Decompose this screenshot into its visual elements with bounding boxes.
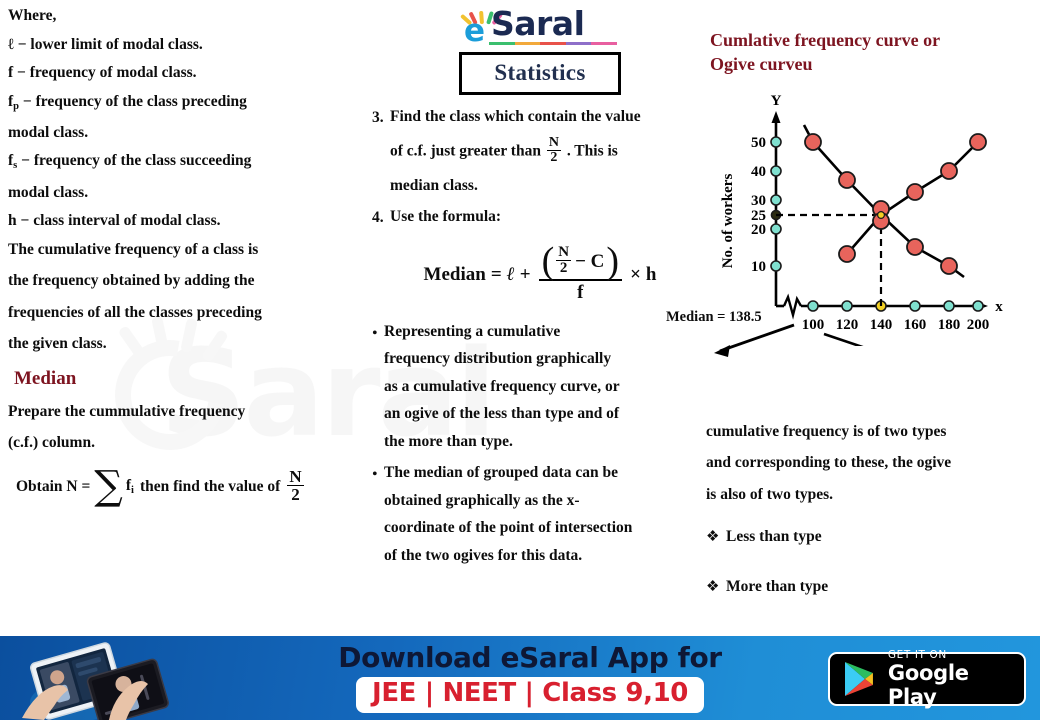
y-axis-arrowhead bbox=[772, 111, 781, 123]
cf-paragraph-line-1: The cumulative frequency of a class is bbox=[8, 242, 370, 258]
y-tick-label-30: 30 bbox=[751, 193, 766, 209]
cf-paragraph-line-3: frequencies of all the classes preceding bbox=[8, 305, 370, 321]
formula-plus: + bbox=[520, 264, 531, 286]
formula-close-paren: ) bbox=[606, 250, 619, 274]
y-tick-dot-40 bbox=[771, 166, 781, 176]
median-arrowhead bbox=[714, 345, 730, 357]
axis-break-zigzag bbox=[784, 297, 801, 315]
formula-minus-c: − C bbox=[575, 251, 604, 273]
esaral-logo: e Saral bbox=[455, 4, 625, 46]
x-tick-dot-100 bbox=[808, 301, 818, 311]
right-paragraph-line-3: is also of two types. bbox=[706, 487, 1036, 503]
banner-course-pill: JEE | NEET | Class 9,10 bbox=[356, 677, 704, 713]
bullet-2-line-4: of the two ogives for this data. bbox=[384, 548, 708, 564]
formula-ell: ℓ bbox=[507, 264, 515, 286]
definition-fp-cont: modal class. bbox=[8, 125, 370, 141]
where-label: Where, bbox=[8, 8, 370, 24]
worksheet-page: Saral Where, ℓ − lower limit of modal cl… bbox=[0, 0, 1040, 720]
definition-f: f − frequency of modal class. bbox=[8, 65, 370, 81]
x-axis-arrow-label: x bbox=[995, 299, 1003, 315]
right-column: Cumlative frequency curve or Ogive curve… bbox=[706, 0, 1036, 628]
bullet-2-line-2: obtained graphically as the x- bbox=[384, 493, 708, 509]
y-tick-dot-10 bbox=[771, 261, 781, 271]
prepare-line-2: (c.f.) column. bbox=[8, 435, 370, 451]
obtain-n-formula: Obtain N = ∑ fi then find the value of N… bbox=[16, 469, 370, 505]
diamond-bullet-icon: ❖ bbox=[706, 580, 726, 595]
cf-paragraph-line-4: the given class. bbox=[8, 336, 370, 352]
type-item-more-than: ❖ More than type bbox=[706, 578, 1036, 596]
y-tick-label-10: 10 bbox=[751, 259, 766, 275]
step-4-line-1: Use the formula: bbox=[390, 209, 708, 225]
right-paragraph: cumulative frequency is of two types and… bbox=[706, 424, 1036, 503]
median-heading: Median bbox=[14, 368, 370, 390]
n-over-2-fraction: N 2 bbox=[287, 468, 303, 504]
x-tick-label-160: 160 bbox=[904, 317, 927, 333]
data-point-120-13 bbox=[839, 246, 855, 262]
formula-main-fraction: ( N 2 − C ) f bbox=[539, 246, 622, 304]
ogive-heading-line-2: Ogive curveu bbox=[710, 52, 1036, 76]
tablet-illustration bbox=[14, 640, 199, 720]
type-item-less-than: ❖ Less than type bbox=[706, 528, 1036, 546]
ogive-chart: Y x No. of workers 50 40 30 bbox=[706, 91, 1036, 346]
logo-color-bar bbox=[489, 42, 617, 45]
cf-paragraph-line-2: the frequency obtained by adding the bbox=[8, 273, 370, 289]
ogive-heading: Cumlative frequency curve or Ogive curve… bbox=[710, 28, 1036, 77]
data-point-180-10 bbox=[941, 258, 957, 274]
banner-text-block: Download eSaral App for JEE | NEET | Cla… bbox=[330, 642, 730, 713]
ogive-chart-svg: Y x No. of workers 50 40 30 bbox=[706, 91, 1036, 346]
x-tick-label-180: 180 bbox=[938, 317, 961, 333]
formula-h: h bbox=[646, 264, 657, 286]
data-point-100-50 bbox=[805, 134, 821, 150]
y-axis-arrow-label: Y bbox=[771, 93, 782, 109]
bullet-dot-icon: • bbox=[372, 324, 384, 462]
google-play-big-text: Google Play bbox=[888, 662, 1024, 708]
obtain-variable: fi bbox=[126, 477, 134, 496]
x-tick-dot-180 bbox=[944, 301, 954, 311]
bullet-2-line-1: The median of grouped data can be bbox=[384, 465, 708, 481]
summation-icon: ∑ bbox=[94, 472, 123, 501]
definition-ell: ℓ − lower limit of modal class. bbox=[8, 37, 370, 53]
x-tick-dot-160 bbox=[910, 301, 920, 311]
step-3: 3. Find the class which contain the valu… bbox=[372, 109, 708, 206]
app-download-banner[interactable]: Download eSaral App for JEE | NEET | Cla… bbox=[0, 636, 1040, 720]
formula-label: Median bbox=[424, 264, 486, 286]
step-4: 4. Use the formula: bbox=[372, 209, 708, 237]
google-play-triangle-icon bbox=[842, 660, 876, 698]
right-paragraph-line-2: and corresponding to these, the ogive bbox=[706, 455, 1036, 471]
step-3-line-3: median class. bbox=[390, 178, 708, 194]
median-annotation-arrow-line bbox=[824, 334, 898, 346]
y-tick-dot-20 bbox=[771, 224, 781, 234]
y-axis-title: No. of workers bbox=[720, 173, 736, 268]
bullet-dot-icon: • bbox=[372, 465, 384, 575]
x-tick-label-100: 100 bbox=[802, 317, 825, 333]
bullet-1-line-5: the more than type. bbox=[384, 434, 708, 450]
step-3-fraction: N 2 bbox=[547, 136, 561, 166]
diamond-bullet-icon: ❖ bbox=[706, 530, 726, 545]
x-tick-label-140: 140 bbox=[870, 317, 893, 333]
middle-column: e Saral Statistics 3. Find the class whi… bbox=[372, 0, 708, 579]
obtain-prefix: Obtain N = bbox=[16, 478, 90, 496]
banner-course-text: JEE | NEET | Class 9,10 bbox=[372, 678, 688, 708]
definition-h: h − class interval of modal class. bbox=[8, 213, 370, 229]
left-column: Where, ℓ − lower limit of modal class. f… bbox=[8, 0, 370, 505]
ogive-heading-line-1: Cumlative frequency curve or bbox=[710, 28, 1036, 52]
step-3-line-1: Find the class which contain the value bbox=[390, 109, 708, 125]
median-formula: Median = ℓ + ( N 2 − C ) f × h bbox=[372, 246, 708, 304]
x-tick-dot-200 bbox=[973, 301, 983, 311]
data-point-180-40 bbox=[941, 163, 957, 179]
bullet-item-2: • The median of grouped data can be obta… bbox=[372, 465, 708, 575]
data-point-160-15 bbox=[907, 239, 923, 255]
data-point-160-35 bbox=[907, 184, 923, 200]
formula-n-over-2: N 2 bbox=[556, 245, 571, 277]
logo-e-letter: e bbox=[464, 16, 485, 47]
y-tick-label-40: 40 bbox=[751, 164, 766, 180]
intersection-point-dot bbox=[878, 211, 885, 218]
definition-fs: fs − frequency of the class succeeding bbox=[8, 153, 370, 171]
type-label-less-than: Less than type bbox=[726, 528, 822, 546]
logo-wordmark: Saral bbox=[491, 6, 584, 42]
right-paragraph-line-1: cumulative frequency is of two types bbox=[706, 424, 1036, 440]
x-tick-label-200: 200 bbox=[967, 317, 990, 333]
bullet-1-line-3: as a cumulative frequency curve, or bbox=[384, 379, 708, 395]
x-tick-dot-120 bbox=[842, 301, 852, 311]
y-tick-dot-30 bbox=[771, 195, 781, 205]
google-play-badge[interactable]: GET IT ON Google Play bbox=[828, 652, 1026, 706]
bullet-1-line-4: an ogive of the less than type and of bbox=[384, 406, 708, 422]
y-tick-label-20: 20 bbox=[751, 222, 766, 238]
step-4-number: 4. bbox=[372, 209, 390, 237]
formula-equals: = bbox=[491, 264, 502, 286]
prepare-line-1: Prepare the cummulative frequency bbox=[8, 404, 370, 420]
obtain-middle: then find the value of bbox=[140, 478, 280, 496]
data-point-120-37 bbox=[839, 172, 855, 188]
formula-open-paren: ( bbox=[542, 250, 555, 274]
definition-fs-cont: modal class. bbox=[8, 185, 370, 201]
page-title: Statistics bbox=[494, 60, 585, 85]
y-tick-dot-50 bbox=[771, 137, 781, 147]
x-tick-label-120: 120 bbox=[836, 317, 859, 333]
formula-denominator: f bbox=[539, 281, 622, 304]
banner-title: Download eSaral App for bbox=[330, 642, 730, 674]
type-label-more-than: More than type bbox=[726, 578, 828, 596]
definition-fp: fp − frequency of the class preceding bbox=[8, 94, 370, 112]
data-point-200-50 bbox=[970, 134, 986, 150]
statistics-title-box: Statistics bbox=[459, 52, 621, 95]
y-tick-label-50: 50 bbox=[751, 135, 766, 151]
median-arrow-svg bbox=[658, 319, 798, 363]
step-3-number: 3. bbox=[372, 109, 390, 206]
formula-times: × bbox=[630, 264, 641, 286]
bullet-2-line-3: coordinate of the point of intersection bbox=[384, 520, 708, 536]
step-3-line-2: of c.f. just greater than N 2 . This is bbox=[390, 137, 708, 167]
